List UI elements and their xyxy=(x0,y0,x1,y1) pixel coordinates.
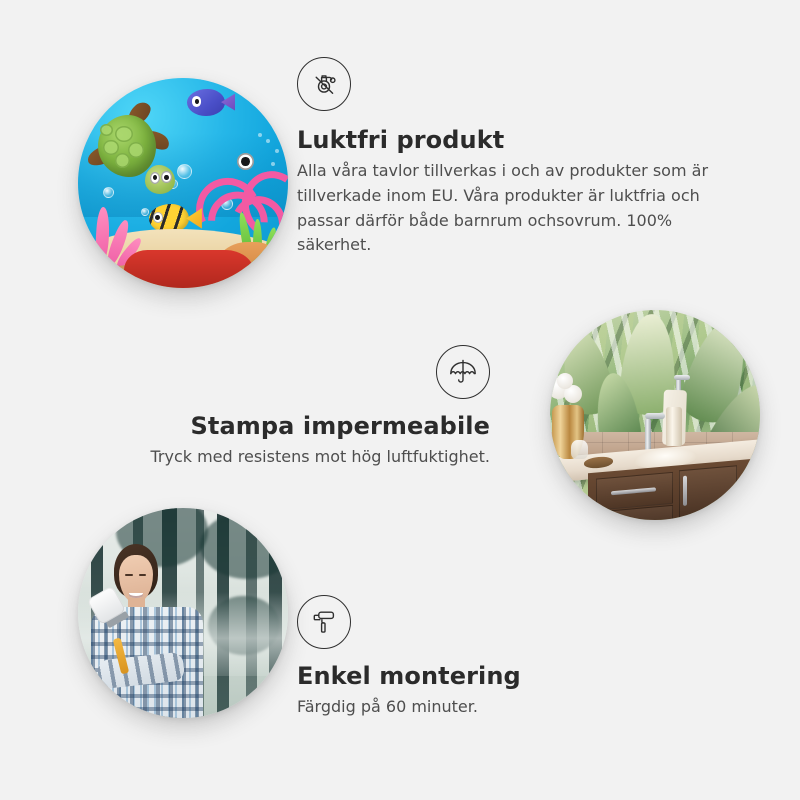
sea-turtle-illustration xyxy=(91,112,179,196)
fish-body xyxy=(187,89,225,116)
shell-plate xyxy=(115,153,130,168)
shell-plate xyxy=(103,140,118,155)
shell-plate xyxy=(128,142,144,158)
vanity-door xyxy=(679,465,738,520)
feature-description: Alla våra tavlor tillverkas i och av pro… xyxy=(297,159,729,258)
fish-tail xyxy=(186,208,202,229)
feature-title: Stampa impermeabile xyxy=(130,411,490,441)
turtle-eye xyxy=(161,171,171,183)
image-woman-with-paint-roller xyxy=(78,508,288,718)
feature-waterproof: Stampa impermeabile Tryck med resistens … xyxy=(130,345,490,470)
turtle-eye xyxy=(150,172,160,184)
underwater-scene xyxy=(78,78,288,288)
image-bathroom-tropical-wallpaper xyxy=(550,310,760,520)
feature-description: Färgdig på 60 minuter. xyxy=(297,695,697,720)
eye xyxy=(125,574,132,576)
octopus-eye xyxy=(237,153,254,170)
eye xyxy=(139,574,146,576)
vanity-door-handle xyxy=(682,476,686,507)
octopus-spot xyxy=(271,162,275,166)
sink-faucet xyxy=(645,419,651,453)
image-underwater-cartoon-mural xyxy=(78,78,288,288)
flower-bloom xyxy=(557,373,573,389)
face xyxy=(119,555,153,604)
feature-collage: Luktfri produkt Alla våra tavlor tillver… xyxy=(0,0,800,800)
blue-fish-illustration xyxy=(187,89,235,116)
bubble-icon xyxy=(177,164,192,179)
octopus-spot xyxy=(258,133,262,137)
glass-jar xyxy=(571,440,588,459)
woman-figure xyxy=(91,544,221,718)
paint-roller-icon xyxy=(297,595,351,649)
soap-dispenser xyxy=(666,407,683,447)
shipwreck-illustration xyxy=(124,250,254,288)
installer-scene xyxy=(78,508,288,718)
feature-odorless: Luktfri produkt Alla våra tavlor tillver… xyxy=(297,57,729,258)
feature-easy-install: Enkel montering Färgdig på 60 minuter. xyxy=(297,595,697,720)
octopus-spot xyxy=(275,149,279,153)
shell-plate xyxy=(100,124,113,136)
umbrella-icon xyxy=(436,345,490,399)
turtle-head xyxy=(145,165,175,194)
feature-title: Enkel montering xyxy=(297,661,697,691)
turtle-shell xyxy=(98,115,156,177)
no-perfume-bottle-icon xyxy=(297,57,351,111)
octopus-head xyxy=(229,124,288,190)
feature-description: Tryck med resistens mot hög luftfuktighe… xyxy=(130,445,490,470)
bathroom-scene xyxy=(550,310,760,520)
feature-title: Luktfri produkt xyxy=(297,125,729,155)
fish-eye xyxy=(192,96,202,106)
shell-plate xyxy=(115,126,132,142)
octopus-spot xyxy=(266,139,270,143)
